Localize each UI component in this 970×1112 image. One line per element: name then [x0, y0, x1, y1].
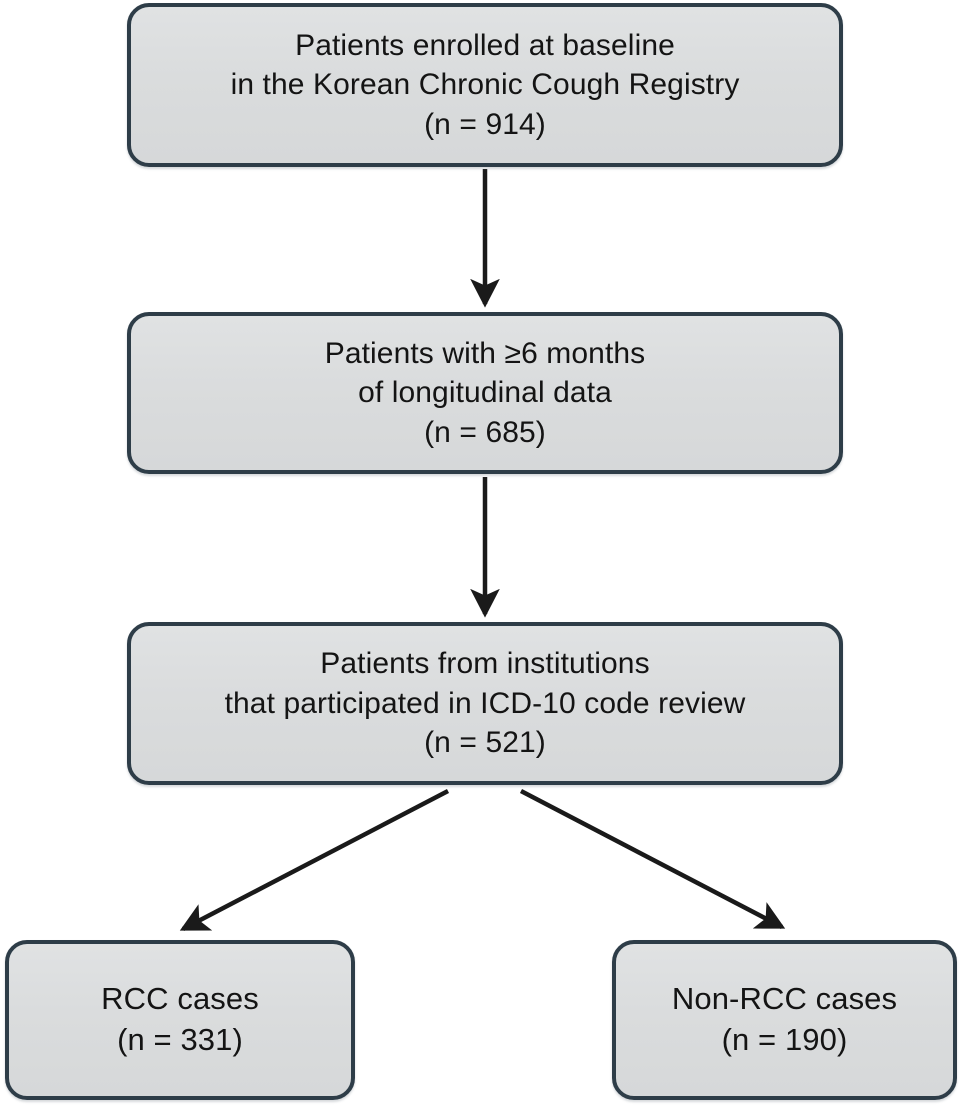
- node-rcc-cases-label: RCC cases (n = 331): [9, 979, 351, 1061]
- node-patients-icd10-review-label: Patients from institutions that particip…: [131, 644, 839, 763]
- node-patients-enrolled: Patients enrolled at baseline in the Kor…: [127, 3, 843, 167]
- node-non-rcc-cases-label: Non-RCC cases (n = 190): [616, 979, 953, 1061]
- node-patients-enrolled-label: Patients enrolled at baseline in the Kor…: [131, 26, 839, 145]
- node-patients-longitudinal-data: Patients with ≥6 months of longitudinal …: [127, 312, 843, 474]
- node-patients-icd10-review: Patients from institutions that particip…: [127, 622, 843, 785]
- node-patients-longitudinal-data-label: Patients with ≥6 months of longitudinal …: [131, 334, 839, 453]
- node-non-rcc-cases: Non-RCC cases (n = 190): [612, 940, 957, 1100]
- edge-icd-review-to-nonrcc: [521, 791, 782, 927]
- edge-icd-review-to-rcc: [183, 791, 448, 929]
- node-rcc-cases: RCC cases (n = 331): [5, 940, 355, 1100]
- flowchart-canvas: Patients enrolled at baseline in the Kor…: [0, 0, 970, 1112]
